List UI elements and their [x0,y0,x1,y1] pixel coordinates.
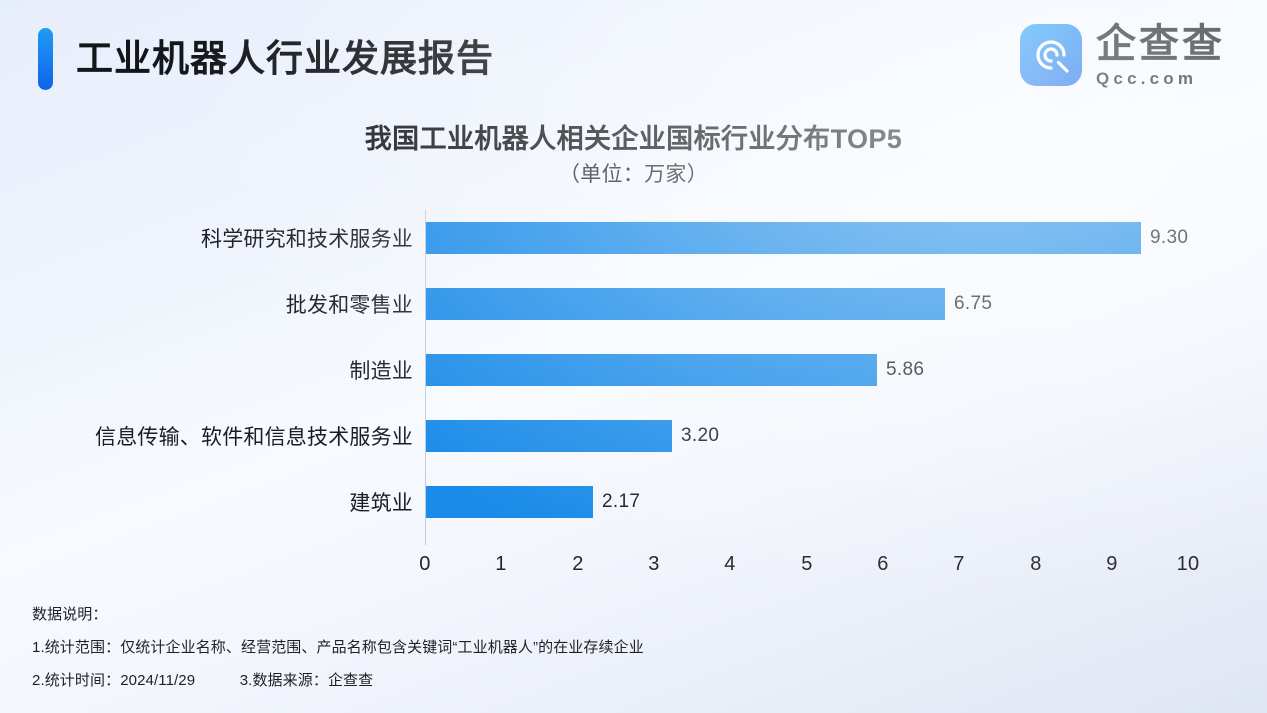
report-page: 工业机器人行业发展报告 企查查 Qcc.com 我国工业机器人相关企业国标行业分… [0,0,1267,713]
bar-group: 5.86 [426,337,924,403]
x-tick: 9 [1106,553,1117,576]
notes-line-time-source: 2.统计时间：2024/11/29 3.数据来源：企查查 [32,664,1132,697]
page-header: 工业机器人行业发展报告 企查查 Qcc.com [0,0,1267,108]
chart-row: 建筑业 2.17 [0,469,1267,535]
notes-line-scope: 1.统计范围：仅统计企业名称、经营范围、产品名称包含关键词“工业机器人”的在业存… [32,631,1132,664]
category-label: 制造业 [349,337,413,403]
chart-row: 信息传输、软件和信息技术服务业 3.20 [0,403,1267,469]
data-notes: 数据说明： 1.统计范围：仅统计企业名称、经营范围、产品名称包含关键词“工业机器… [32,598,1132,697]
brand-name-en: Qcc.com [1096,70,1225,87]
bar[interactable] [426,486,593,518]
brand-logo: 企查查 Qcc.com [1020,22,1225,88]
page-title: 工业机器人行业发展报告 [76,30,494,88]
x-tick: 2 [572,553,583,576]
brand-name-cn: 企查查 [1096,24,1225,64]
x-tick: 7 [953,553,964,576]
x-tick: 5 [801,553,812,576]
bar-group: 9.30 [426,205,1188,271]
title-accent-bar [38,28,53,90]
bar-group: 2.17 [426,469,640,535]
chart-row: 科学研究和技术服务业 9.30 [0,205,1267,271]
bar[interactable] [426,288,945,320]
x-axis: 0 1 2 3 4 5 6 7 8 9 10 [0,553,1267,583]
qcc-logo-icon [1020,24,1082,86]
bar-group: 6.75 [426,271,992,337]
bar-chart-plot: 科学研究和技术服务业 9.30 批发和零售业 6.75 制造业 5.86 信息传… [0,205,1267,550]
x-tick: 10 [1177,553,1200,576]
bar-value-label: 6.75 [954,293,992,315]
category-label: 批发和零售业 [286,271,413,337]
chart-row: 批发和零售业 6.75 [0,271,1267,337]
bar-value-label: 3.20 [681,425,719,447]
brand-text: 企查查 Qcc.com [1096,24,1225,87]
bar-group: 3.20 [426,403,719,469]
bar-value-label: 5.86 [886,359,924,381]
chart-row: 制造业 5.86 [0,337,1267,403]
bar[interactable] [426,354,877,386]
x-tick: 8 [1030,553,1041,576]
x-tick: 6 [877,553,888,576]
x-tick: 1 [495,553,506,576]
bar-value-label: 9.30 [1150,227,1188,249]
notes-stat-time: 2.统计时间：2024/11/29 [32,664,195,697]
x-tick: 4 [724,553,735,576]
x-tick: 0 [419,553,430,576]
category-label: 建筑业 [349,469,413,535]
bar[interactable] [426,222,1141,254]
category-label: 信息传输、软件和信息技术服务业 [95,403,413,469]
category-label: 科学研究和技术服务业 [201,205,413,271]
chart-subtitle: （单位：万家） [0,158,1267,188]
bar-value-label: 2.17 [602,491,640,513]
chart-title: 我国工业机器人相关企业国标行业分布TOP5 [0,117,1267,156]
notes-data-source: 3.数据来源：企查查 [240,664,374,697]
notes-heading: 数据说明： [32,598,1132,631]
x-tick: 3 [648,553,659,576]
bar[interactable] [426,420,672,452]
